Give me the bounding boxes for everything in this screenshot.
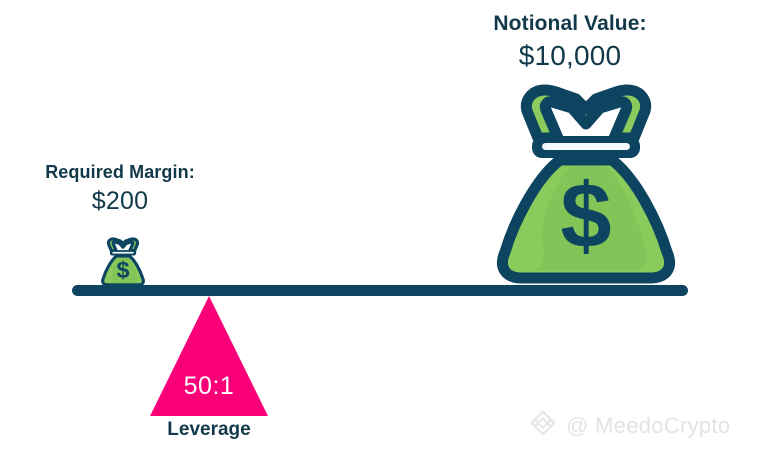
watermark-handle: @ MeedoCrypto: [566, 413, 730, 439]
money-bag-large-icon: $: [488, 82, 684, 287]
required-margin-title: Required Margin:: [20, 162, 220, 183]
required-margin-amount: $200: [20, 187, 220, 216]
dollar-sign-icon: $: [116, 257, 129, 283]
leverage-caption: Leverage: [150, 419, 268, 441]
infographic-canvas: Notional Value: $10,000 Required Margin:…: [0, 0, 760, 456]
watermark: @ MeedoCrypto: [528, 408, 730, 443]
dollar-sign-icon: $: [560, 165, 611, 267]
notional-value-amount: $10,000: [455, 40, 685, 72]
leverage-fulcrum-triangle: 50:1: [150, 296, 268, 416]
balance-beam: [72, 285, 688, 296]
notional-value-label: Notional Value: $10,000: [455, 12, 685, 72]
notional-value-title: Notional Value:: [455, 12, 685, 36]
required-margin-label: Required Margin: $200: [20, 162, 220, 215]
leverage-ratio-text: 50:1: [150, 372, 268, 401]
money-bag-small-icon: $: [99, 237, 147, 287]
diamond-logo-icon: [528, 408, 558, 443]
